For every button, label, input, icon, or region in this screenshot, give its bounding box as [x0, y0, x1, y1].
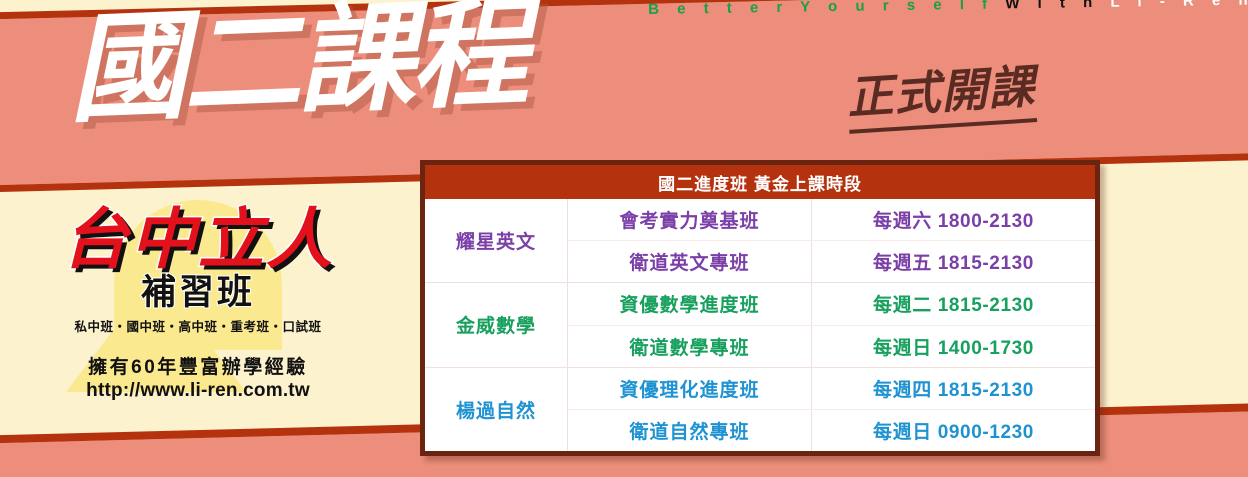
- course-cell: 資優理化進度班: [568, 368, 812, 409]
- subject-rows: 資優理化進度班 每週四 1815-2130 衛道自然專班 每週日 0900-12…: [568, 368, 1095, 451]
- table-row: 資優數學進度班 每週二 1815-2130: [568, 283, 1095, 325]
- course-cell: 資優數學進度班: [568, 283, 812, 324]
- brand-tagline: B e t t e r Y o u r s e l f W i t h L i …: [648, 0, 1248, 18]
- brand-logo: 台中立人 補習班 私中班‧國中班‧高中班‧重考班‧口試班 擁有60年豐富辦學經驗…: [18, 196, 378, 422]
- page-title: 國二課程: [66, 0, 527, 136]
- tagline-word-with: W i t h: [1005, 0, 1099, 12]
- logo-website-url: http://www.li-ren.com.tw: [18, 380, 378, 402]
- logo-name: 台中立人: [18, 206, 378, 272]
- schedule-group: 楊過自然 資優理化進度班 每週四 1815-2130 衛道自然專班 每週日 09…: [425, 368, 1095, 451]
- time-cell: 每週日 0900-1230: [812, 410, 1095, 451]
- headline-subtitle-wrap: 正式開課: [845, 50, 1037, 134]
- table-row: 衛道英文專班 每週五 1815-2130: [568, 241, 1095, 282]
- subject-cell: 耀星英文: [425, 199, 568, 282]
- time-cell: 每週四 1815-2130: [812, 368, 1095, 409]
- logo-class-list: 私中班‧國中班‧高中班‧重考班‧口試班: [18, 316, 378, 335]
- schedule-header: 國二進度班 黃金上課時段: [425, 165, 1095, 199]
- subject-cell: 金威數學: [425, 283, 568, 366]
- table-row: 資優理化進度班 每週四 1815-2130: [568, 368, 1095, 410]
- schedule-group: 耀星英文 會考實力奠基班 每週六 1800-2130 衛道英文專班 每週五 18…: [425, 199, 1095, 283]
- tagline-word-liren: L i - R e n: [1110, 0, 1248, 11]
- time-cell: 每週二 1815-2130: [812, 283, 1095, 324]
- headline: 國二課程: [66, 0, 527, 136]
- table-row: 會考實力奠基班 每週六 1800-2130: [568, 199, 1095, 241]
- course-cell: 會考實力奠基班: [568, 199, 812, 240]
- course-cell: 衛道數學專班: [568, 326, 812, 367]
- time-cell: 每週日 1400-1730: [812, 326, 1095, 367]
- time-cell: 每週五 1815-2130: [812, 241, 1095, 282]
- tagline-word-better: B e t t e r: [648, 0, 789, 18]
- logo-subname: 補習班: [18, 276, 378, 311]
- schedule-table: 國二進度班 黃金上課時段 耀星英文 會考實力奠基班 每週六 1800-2130 …: [420, 160, 1100, 456]
- schedule-group: 金威數學 資優數學進度班 每週二 1815-2130 衛道數學專班 每週日 14…: [425, 283, 1095, 367]
- subject-rows: 會考實力奠基班 每週六 1800-2130 衛道英文專班 每週五 1815-21…: [568, 199, 1095, 282]
- page-subtitle: 正式開課: [845, 50, 1037, 134]
- table-row: 衛道自然專班 每週日 0900-1230: [568, 410, 1095, 451]
- promo-poster: B e t t e r Y o u r s e l f W i t h L i …: [0, 0, 1248, 477]
- subject-cell: 楊過自然: [425, 368, 568, 451]
- logo-experience-text: 擁有60年豐富辦學經驗: [18, 352, 378, 379]
- time-cell: 每週六 1800-2130: [812, 199, 1095, 240]
- course-cell: 衛道英文專班: [568, 241, 812, 282]
- table-row: 衛道數學專班 每週日 1400-1730: [568, 326, 1095, 367]
- schedule-body: 耀星英文 會考實力奠基班 每週六 1800-2130 衛道英文專班 每週五 18…: [425, 199, 1095, 451]
- course-cell: 衛道自然專班: [568, 410, 812, 451]
- tagline-word-yourself: Y o u r s e l f: [800, 0, 994, 16]
- subject-rows: 資優數學進度班 每週二 1815-2130 衛道數學專班 每週日 1400-17…: [568, 283, 1095, 366]
